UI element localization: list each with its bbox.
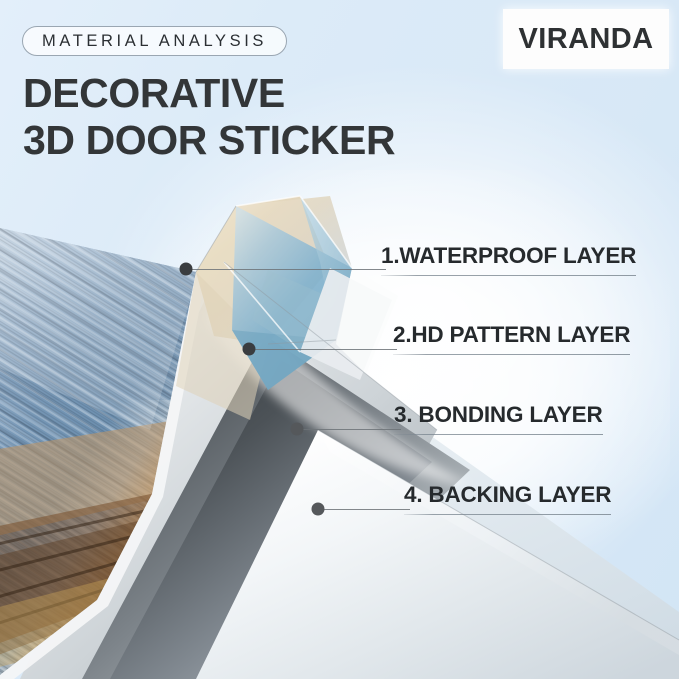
layer-dot-bonding bbox=[291, 423, 304, 436]
badge-label: MATERIAL ANALYSIS bbox=[42, 32, 267, 51]
callout-label-3: 3. BONDING LAYER bbox=[394, 404, 603, 427]
callout-rule-4 bbox=[404, 514, 611, 515]
callout-hd-pattern-layer: 2.HD PATTERN LAYER bbox=[393, 324, 630, 355]
leader-line-4 bbox=[318, 509, 410, 510]
layer-dot-waterproof bbox=[180, 263, 193, 276]
layer-dot-hd-pattern bbox=[243, 343, 256, 356]
page-title-line-2: 3D DOOR STICKER bbox=[23, 117, 395, 164]
callout-backing-layer: 4. BACKING LAYER bbox=[404, 484, 611, 515]
callout-rule-3 bbox=[394, 434, 603, 435]
leader-line-3 bbox=[297, 429, 401, 430]
callout-label-4: 4. BACKING LAYER bbox=[404, 484, 611, 507]
page-title-line-1: DECORATIVE bbox=[23, 70, 285, 117]
callout-label-1: 1.WATERPROOF LAYER bbox=[381, 245, 636, 268]
leader-line-1 bbox=[186, 269, 386, 270]
callout-label-2: 2.HD PATTERN LAYER bbox=[393, 324, 630, 347]
brand-logo-text: VIRANDA bbox=[519, 23, 654, 56]
leader-line-2 bbox=[249, 349, 397, 350]
badge-material-analysis: MATERIAL ANALYSIS bbox=[22, 26, 287, 56]
layer-dot-backing bbox=[312, 503, 325, 516]
callout-bonding-layer: 3. BONDING LAYER bbox=[394, 404, 603, 435]
callout-rule-1 bbox=[381, 275, 636, 276]
callout-waterproof-layer: 1.WATERPROOF LAYER bbox=[381, 245, 636, 276]
poster-canvas: MATERIAL ANALYSIS DECORATIVE 3D DOOR STI… bbox=[0, 0, 679, 679]
callout-rule-2 bbox=[393, 354, 630, 355]
brand-logo: VIRANDA bbox=[503, 9, 669, 69]
